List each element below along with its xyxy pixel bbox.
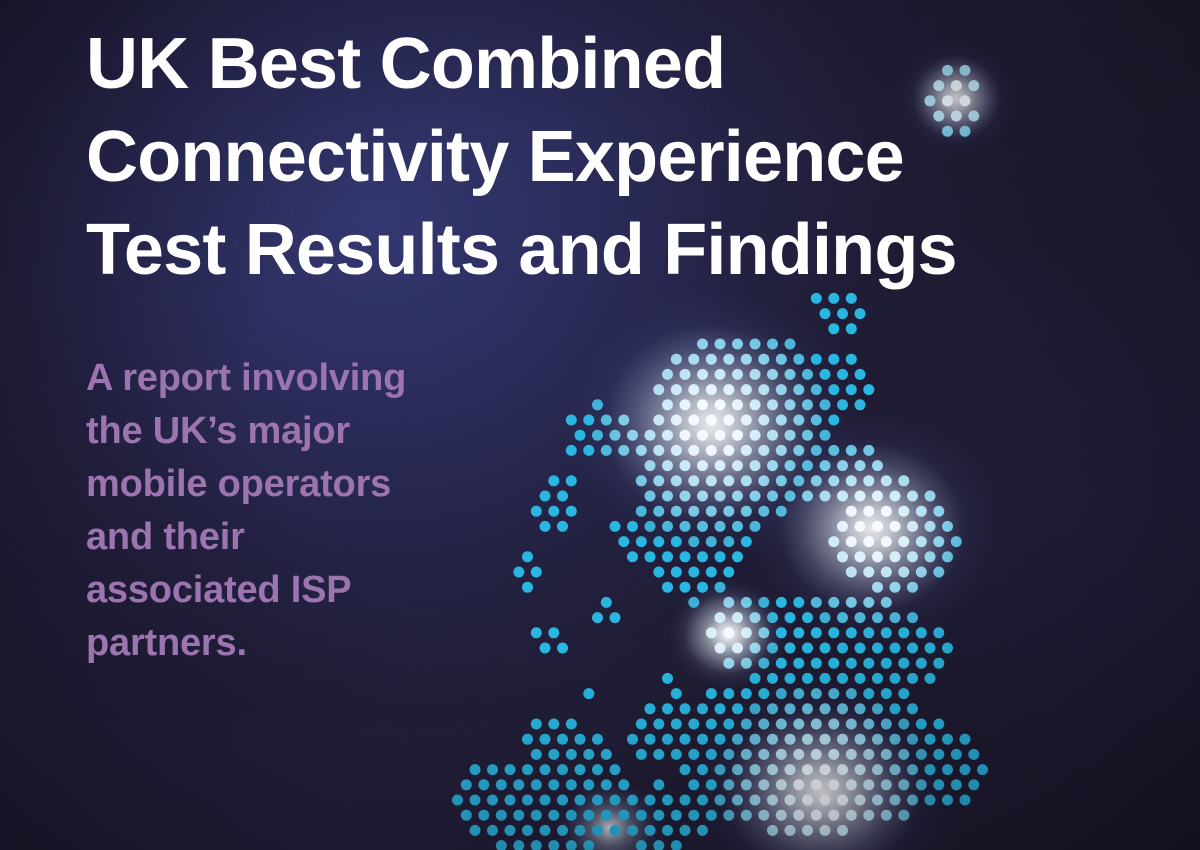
report-cover-page: UK Best Combined Connectivity Experience…: [0, 0, 1200, 850]
page-title: UK Best Combined Connectivity Experience…: [86, 18, 1116, 297]
page-subtitle: A report involving the UK’s major mobile…: [86, 352, 416, 670]
